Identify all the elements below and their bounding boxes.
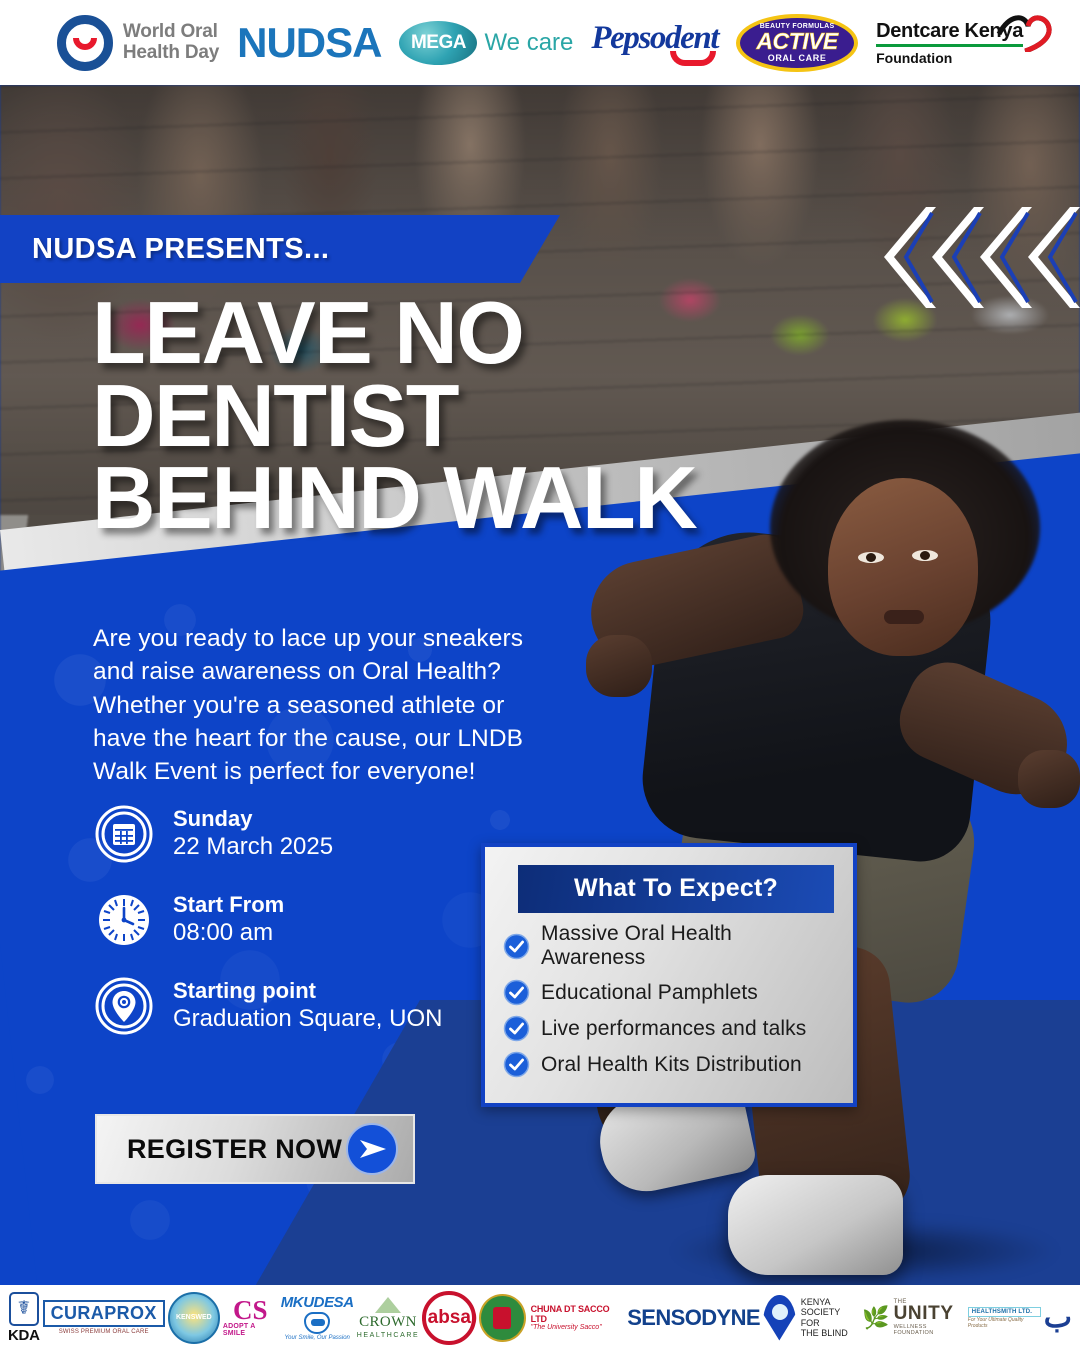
mega-tagline: We care bbox=[484, 29, 573, 57]
location-pin-icon bbox=[95, 977, 153, 1035]
what-to-expect-title: What To Expect? bbox=[518, 865, 834, 913]
ksb-line3: THE BLIND bbox=[801, 1328, 860, 1338]
calendar-icon bbox=[95, 805, 153, 863]
wohd-line2: Health Day bbox=[123, 43, 219, 64]
chevron-decoration bbox=[880, 205, 1080, 310]
world-oral-health-day-icon bbox=[57, 15, 113, 71]
crown-wordmark: CROWN bbox=[359, 1314, 417, 1331]
event-poster: World Oral Health Day NUDSA MEGA We care… bbox=[0, 0, 1080, 1350]
sponsor-logo-pepsodent: Pepsodent bbox=[591, 20, 718, 65]
nudsa-wordmark: NUDSA bbox=[237, 19, 381, 67]
expect-list-item: Live performances and talks bbox=[503, 1015, 839, 1042]
expect-item-label: Live performances and talks bbox=[541, 1017, 806, 1041]
world-oral-health-day-label: World Oral Health Day bbox=[123, 22, 219, 63]
top-sponsor-bar: World Oral Health Day NUDSA MEGA We care… bbox=[0, 0, 1080, 85]
expect-list-item: Educational Pamphlets bbox=[503, 979, 839, 1006]
chuna-text-block: CHUNA DT SACCO LTD "The University Sacco… bbox=[531, 1304, 625, 1331]
unity-line3: WELLNESS FOUNDATION bbox=[894, 1324, 965, 1336]
smile-icon bbox=[73, 38, 97, 50]
runner-right-pupil bbox=[920, 551, 930, 560]
crown-sub-label: HEALTHCARE bbox=[357, 1332, 420, 1339]
chuna-emblem-icon bbox=[479, 1294, 525, 1342]
detail-label-location: Starting point bbox=[173, 978, 442, 1003]
presents-banner: NUDSA PRESENTS... bbox=[0, 215, 560, 283]
runner-mouth bbox=[884, 610, 924, 624]
detail-label-date: Sunday bbox=[173, 806, 333, 831]
detail-value-date: 22 March 2025 bbox=[173, 833, 333, 862]
mkudesa-wordmark: MKUDESA bbox=[281, 1294, 354, 1311]
adopt-a-smile-label: ADOPT A SMILE bbox=[223, 1323, 278, 1337]
healthsmith-label: HEALTHSMITH LTD. bbox=[968, 1307, 1041, 1317]
ksb-line2: SOCIETY FOR bbox=[801, 1307, 860, 1327]
runner-front-shoe bbox=[728, 1175, 903, 1275]
expect-list-item: Massive Oral Health Awareness bbox=[503, 922, 839, 970]
headline-line-2: DENTIST bbox=[92, 375, 696, 458]
bottom-sponsor-bar: ☤ KDA CURAPROX SWISS PREMIUM ORAL CARE K… bbox=[0, 1285, 1080, 1350]
detail-label-time: Start From bbox=[173, 892, 284, 917]
sponsor-logo-kda: ☤ KDA bbox=[8, 1289, 40, 1347]
pepsodent-smile-icon bbox=[670, 51, 716, 66]
clock-icon bbox=[95, 891, 153, 949]
kenswed-badge-icon: KENSWED bbox=[168, 1292, 220, 1344]
active-oval-icon: BEAUTY FORMULAS ACTIVE ORAL CARE bbox=[736, 14, 858, 72]
leaf-icon: 🌿 bbox=[862, 1305, 889, 1331]
sponsor-logo-world-oral-health-day: World Oral Health Day bbox=[57, 15, 219, 71]
sponsor-logo-crown-healthcare: CROWN HEALTHCARE bbox=[357, 1289, 420, 1347]
sponsor-logo-sensodyne: SENSODYNE bbox=[627, 1289, 760, 1347]
ksb-pin-icon bbox=[763, 1295, 796, 1341]
expect-item-label: Oral Health Kits Distribution bbox=[541, 1053, 802, 1077]
expect-list-item: Oral Health Kits Distribution bbox=[503, 1051, 839, 1078]
chuna-line1: CHUNA DT SACCO LTD bbox=[531, 1304, 625, 1324]
expect-item-label: Educational Pamphlets bbox=[541, 981, 758, 1005]
kenswed-label: KENSWED bbox=[176, 1314, 212, 1321]
unity-line2: UNITY bbox=[894, 1305, 965, 1323]
kda-label: KDA bbox=[8, 1327, 40, 1344]
absa-wordmark: (absa) bbox=[422, 1291, 476, 1345]
chevron-left-icon bbox=[1024, 205, 1080, 310]
mega-oval-icon: MEGA bbox=[399, 21, 477, 65]
dentcare-line2: Foundation bbox=[876, 50, 952, 66]
intro-paragraph: Are you ready to lace up your sneakers a… bbox=[93, 622, 528, 789]
sponsor-logo-the-unity-wellness-foundation: 🌿 THE UNITY WELLNESS FOUNDATION bbox=[862, 1289, 965, 1347]
detail-text-location: Starting point Graduation Square, UON bbox=[173, 978, 442, 1033]
sponsor-logo-active-oral-care: BEAUTY FORMULAS ACTIVE ORAL CARE bbox=[736, 14, 858, 72]
mkudesa-tagline: Your Smile, Our Passion bbox=[285, 1335, 350, 1341]
headline-line-3: BEHIND WALK bbox=[92, 457, 696, 540]
sponsor-logo-curaprox: CURAPROX SWISS PREMIUM ORAL CARE bbox=[43, 1289, 165, 1347]
active-wordmark: ACTIVE bbox=[756, 30, 837, 53]
sensodyne-wordmark: SENSODYNE bbox=[627, 1305, 760, 1331]
chuna-line2: "The University Sacco" bbox=[531, 1324, 625, 1331]
arrow-right-icon bbox=[345, 1122, 399, 1176]
register-now-label: REGISTER NOW bbox=[127, 1134, 342, 1165]
active-sub-label: ORAL CARE bbox=[768, 54, 827, 63]
event-details: Sunday 22 March 2025 bbox=[95, 805, 495, 1063]
ksb-text-block: KENYA SOCIETY FOR THE BLIND bbox=[801, 1297, 860, 1337]
ksb-line1: KENYA bbox=[801, 1297, 860, 1307]
heart-icon bbox=[995, 12, 1053, 52]
crown-triangle-icon bbox=[375, 1297, 401, 1313]
detail-row-date: Sunday 22 March 2025 bbox=[95, 805, 495, 863]
check-circle-icon bbox=[503, 979, 530, 1006]
curaprox-wordmark: CURAPROX bbox=[43, 1300, 165, 1327]
wohd-line1: World Oral bbox=[123, 22, 219, 43]
presents-banner-label: NUDSA PRESENTS... bbox=[32, 233, 329, 266]
curaprox-tagline: SWISS PREMIUM ORAL CARE bbox=[59, 1329, 149, 1335]
detail-row-location: Starting point Graduation Square, UON bbox=[95, 977, 495, 1035]
detail-text-time: Start From 08:00 am bbox=[173, 892, 284, 947]
sponsor-logo-absa: (absa) bbox=[422, 1289, 476, 1347]
check-circle-icon bbox=[503, 1015, 530, 1042]
detail-row-time: Start From 08:00 am bbox=[95, 891, 495, 949]
detail-value-location: Graduation Square, UON bbox=[173, 1005, 442, 1034]
chuna-shield-icon bbox=[493, 1307, 511, 1329]
healthsmith-text-block: HEALTHSMITH LTD. For Your Ultimate Quali… bbox=[968, 1307, 1041, 1329]
what-to-expect-panel: What To Expect? Massive Oral Health Awar… bbox=[481, 843, 857, 1107]
sponsor-logo-mega: MEGA We care bbox=[399, 21, 573, 65]
sponsor-logo-mkudesa: MKUDESA Your Smile, Our Passion bbox=[281, 1289, 354, 1347]
detail-value-time: 08:00 am bbox=[173, 919, 284, 948]
sponsor-logo-healthsmith: HEALTHSMITH LTD. For Your Ultimate Quali… bbox=[968, 1289, 1072, 1347]
check-circle-icon bbox=[503, 933, 530, 960]
detail-text-date: Sunday 22 March 2025 bbox=[173, 806, 333, 861]
healthsmith-tagline: For Your Ultimate Quality Products bbox=[968, 1317, 1041, 1329]
sponsor-logo-adopt-a-smile: CS ADOPT A SMILE bbox=[223, 1289, 278, 1347]
check-circle-icon bbox=[503, 1051, 530, 1078]
runner-left-fist bbox=[586, 635, 652, 697]
poster-headline: LEAVE NO DENTIST BEHIND WALK bbox=[92, 292, 696, 540]
sponsor-logo-nudsa: NUDSA bbox=[237, 19, 381, 67]
register-now-button[interactable]: REGISTER NOW bbox=[95, 1114, 415, 1184]
runner-left-pupil bbox=[866, 553, 876, 562]
unity-text-block: THE UNITY WELLNESS FOUNDATION bbox=[894, 1299, 965, 1335]
sponsor-logo-chuna-dt-sacco: CHUNA DT SACCO LTD "The University Sacco… bbox=[479, 1289, 624, 1347]
sponsor-logo-dentcare-kenya: Dentcare Kenya Foundation bbox=[876, 20, 1023, 66]
sponsor-logo-kenya-society-for-the-blind: KENYA SOCIETY FOR THE BLIND bbox=[763, 1289, 859, 1347]
tooth-icon bbox=[304, 1312, 330, 1334]
headline-line-1: LEAVE NO bbox=[92, 292, 696, 375]
healthsmith-monogram-icon: ب bbox=[1044, 1306, 1072, 1330]
expect-item-label: Massive Oral Health Awareness bbox=[541, 922, 839, 970]
sponsor-logo-kenswed: KENSWED bbox=[168, 1289, 220, 1347]
runner-head bbox=[828, 478, 978, 656]
runner-right-fist bbox=[1018, 750, 1080, 808]
caduceus-icon: ☤ bbox=[9, 1292, 39, 1326]
adopt-a-smile-mark: CS bbox=[233, 1298, 268, 1322]
